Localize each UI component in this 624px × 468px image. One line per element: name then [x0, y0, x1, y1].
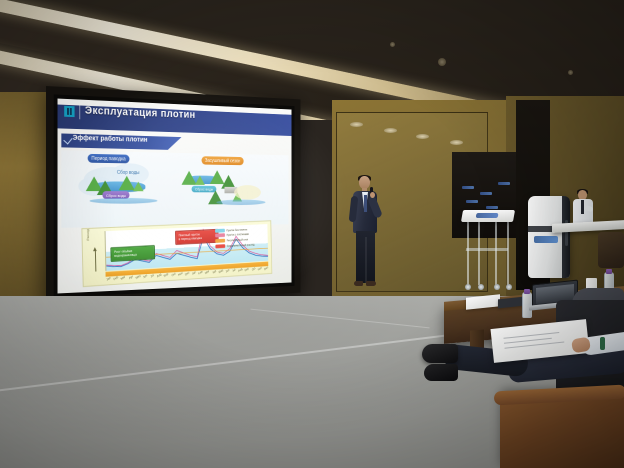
projection-screen[interactable]: Эксплуатация плотин Эффект работы плотин… [46, 86, 300, 306]
podium-logo [476, 213, 499, 218]
ceiling-speaker-icon [438, 58, 446, 66]
hydrograph-chart: Расход м3/сек Рост объёма водохранилища … [81, 220, 272, 287]
bottle-cap [606, 269, 612, 274]
chart-annotation-growth: Рост объёма водохранилища [110, 245, 155, 261]
legend-swatch [215, 239, 225, 243]
presenter-shoe [354, 281, 363, 286]
downlight-icon [450, 140, 463, 145]
river-flow [216, 200, 265, 206]
podium-leg [467, 221, 469, 285]
river-flow [90, 198, 158, 204]
wall-sign-icon [480, 192, 492, 195]
podium-shelf [466, 248, 509, 251]
presenter-tie [364, 195, 367, 212]
wristwatch [600, 337, 605, 350]
presenter-hand [370, 192, 375, 198]
wall-sign-icon [462, 186, 474, 189]
dam-icon [64, 106, 74, 117]
bottle-cap [524, 289, 530, 294]
downlight-icon [384, 128, 397, 133]
podium-top [461, 210, 515, 222]
presenter [348, 176, 382, 292]
podium-leg [478, 221, 480, 285]
presentation-slide: Эксплуатация плотин Эффект работы плотин… [58, 99, 292, 294]
diagram-label-flood: Период паводка [88, 154, 130, 163]
attendee-shoe [424, 364, 458, 381]
legend-swatch [215, 233, 225, 237]
title-divider [79, 103, 80, 119]
hill-shape [195, 176, 205, 185]
ceiling-speaker-icon [568, 70, 573, 75]
presenter-trousers [356, 231, 375, 283]
wall-sign-icon [466, 200, 478, 203]
chart-annotation-peak: Пиковый приток в период паводка [175, 229, 219, 245]
slide-diagram: Период паводка Засушливый сезон Сбор вод… [61, 150, 288, 227]
podium-leg [507, 221, 509, 285]
attendee-shoe [422, 344, 458, 363]
conference-room-photo: Эксплуатация плотин Эффект работы плотин… [0, 0, 624, 468]
axis-arrow-icon [95, 250, 96, 272]
caster-wheel [465, 284, 471, 290]
dry-land-shape [234, 185, 261, 200]
portable-ac-unit [528, 196, 570, 278]
ceiling-speaker-icon [390, 42, 395, 47]
podium-leg [495, 221, 497, 285]
wall-sign-icon [498, 182, 510, 185]
back-attendee [572, 190, 594, 240]
caster-wheel [478, 284, 484, 290]
back-chair [598, 232, 624, 268]
diagram-label-dry: Засушливый сезон [202, 156, 244, 165]
caster-wheel [506, 284, 512, 290]
legend-swatch [215, 244, 225, 248]
presenter-shoe [366, 281, 376, 286]
ac-brand-logo [534, 236, 558, 243]
acrylic-podium [462, 210, 514, 292]
downlight-icon [416, 134, 429, 139]
caster-wheel [494, 284, 500, 290]
downlight-icon [350, 122, 363, 127]
screen-inner-bezel: Эксплуатация плотин Эффект работы плотин… [54, 94, 295, 297]
wall-sign-icon [486, 206, 498, 209]
x-tick: Dec [263, 265, 272, 275]
legend-swatch [215, 229, 225, 233]
hill-shape [133, 182, 144, 192]
